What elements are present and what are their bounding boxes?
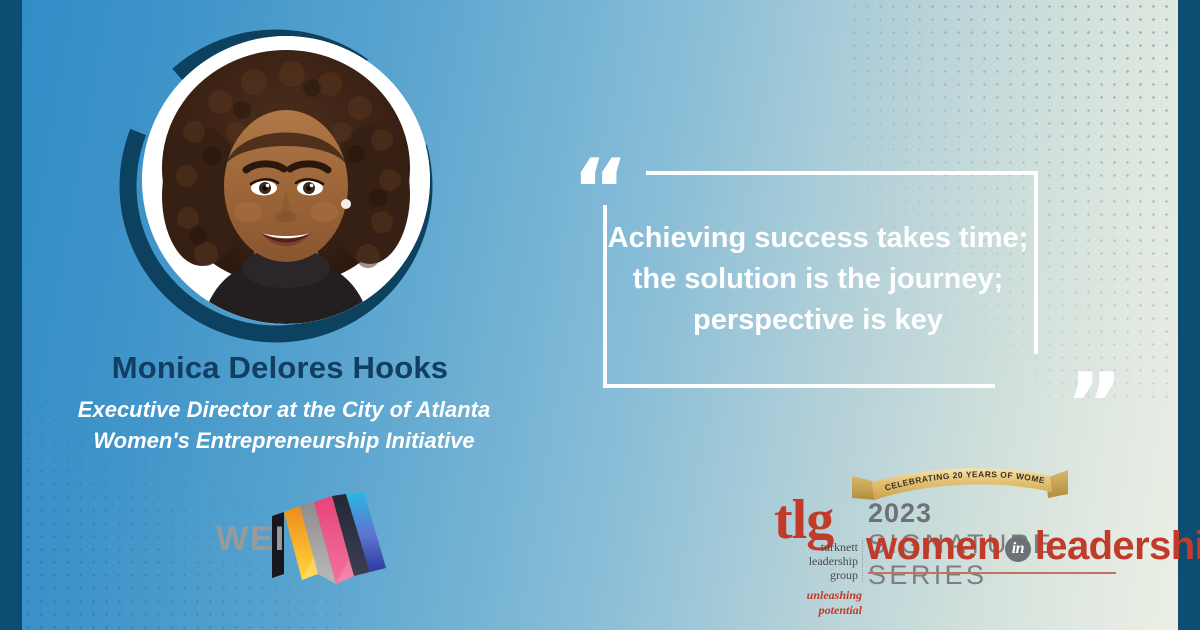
- tlg-org-line-2: leadership: [770, 554, 858, 568]
- quote-text: Achieving success takes time; the soluti…: [598, 218, 1038, 341]
- close-quote-icon: ”: [1066, 362, 1123, 448]
- speaker-portrait: [118, 28, 434, 344]
- left-edge-bar: [0, 0, 22, 630]
- speaker-name: Monica Delores Hooks: [0, 350, 560, 386]
- tlg-mark: tlg turknett leadership group unleashing…: [770, 496, 866, 578]
- quote-line-2: the solution is the journey;: [598, 259, 1038, 300]
- wei-wordmark: WEI: [216, 520, 286, 559]
- in-badge: in: [1005, 536, 1031, 562]
- title-word-women: women: [866, 524, 1001, 568]
- wei-logo: WEI: [214, 492, 404, 588]
- quote-frame-bottom: [603, 384, 995, 388]
- speaker-title-line-2: Women's Entrepreneurship Initiative: [0, 425, 568, 456]
- speaker-title-line-1: Executive Director at the City of Atlant…: [0, 394, 568, 425]
- avatar: [142, 36, 430, 324]
- quote-frame-top: [646, 171, 1038, 175]
- quote-line-1: Achieving success takes time;: [598, 218, 1038, 259]
- quote-line-3: perspective is key: [598, 300, 1038, 341]
- speaker-title: Executive Director at the City of Atlant…: [0, 394, 568, 456]
- quote-block: “ ” Achieving success takes time; the so…: [568, 140, 1168, 440]
- tlg-org-line-3: group: [770, 568, 858, 582]
- tlg-underline-rule: [868, 572, 1116, 574]
- women-in-leadership-title: womeninleadership: [866, 526, 1200, 566]
- tlg-org-line-1: turknett: [770, 540, 858, 554]
- title-word-leadership: leadership: [1035, 524, 1200, 568]
- tlg-org-name: turknett leadership group: [770, 540, 863, 582]
- speaker-quote-card: Monica Delores Hooks Executive Director …: [0, 0, 1200, 630]
- tlg-logo: CELEBRATING 20 YEARS OF WOMEN IN LEADERS…: [768, 468, 1120, 580]
- tlg-tagline: unleashing potential: [770, 588, 862, 618]
